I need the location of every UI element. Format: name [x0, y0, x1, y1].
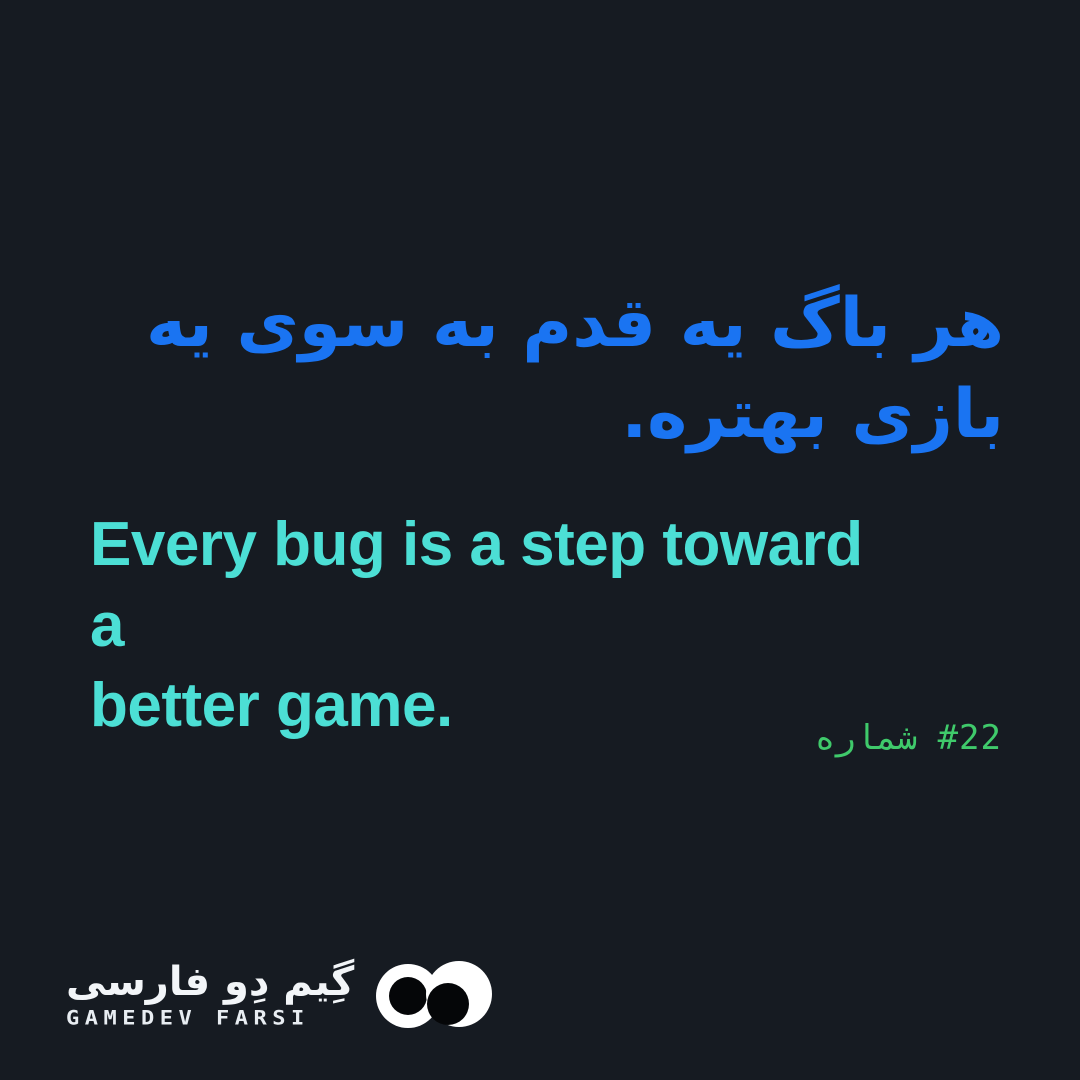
issue-number-label: شماره [815, 718, 917, 758]
brand-lockup: گِیم دِو فارسی GAMEDEV FARSI [66, 952, 492, 1038]
brand-name-persian: گِیم دِو فارسی [66, 962, 354, 1002]
googly-eyes-icon [374, 952, 492, 1038]
issue-number: #22 شماره [78, 718, 1002, 758]
quote-persian: هر باگ یه قدم به سوی یه بازی بهتره. [76, 278, 1004, 460]
quote-card: هر باگ یه قدم به سوی یه بازی بهتره. Ever… [0, 0, 1080, 1080]
brand-text: گِیم دِو فارسی GAMEDEV FARSI [66, 962, 354, 1029]
brand-name-english: GAMEDEV FARSI [66, 1009, 310, 1028]
quote-english: Every bug is a step toward a better game… [90, 505, 880, 747]
issue-number-value: #22 [938, 718, 1002, 758]
